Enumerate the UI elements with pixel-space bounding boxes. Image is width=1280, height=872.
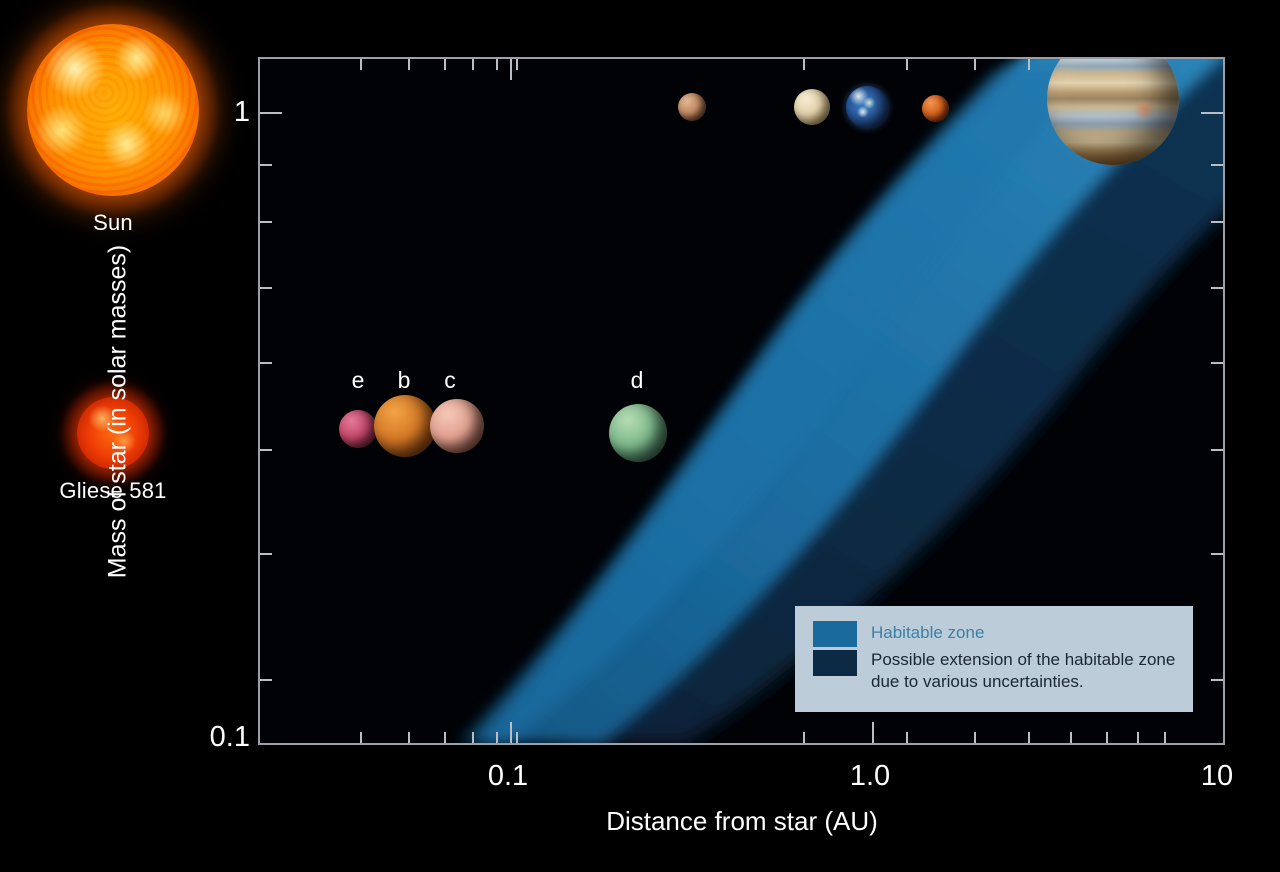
x-tick-minor <box>1137 732 1139 743</box>
planet-gliese-c[interactable] <box>430 399 484 453</box>
x-tick-minor-top <box>906 59 908 70</box>
x-tick-minor-top <box>444 59 446 70</box>
planet-label-c: c <box>430 367 470 394</box>
y-tick-minor-right <box>1211 553 1223 555</box>
x-tick-label-0-1: 0.1 <box>458 760 558 793</box>
x-tick-minor <box>496 732 498 743</box>
y-axis-title: Mass of star (in solar masses) <box>104 202 133 622</box>
x-tick-minor <box>1070 732 1072 743</box>
x-tick-minor <box>1164 732 1166 743</box>
x-tick-minor-top <box>1028 59 1030 70</box>
legend-row-habitable: Habitable zone <box>813 620 1177 647</box>
x-tick-minor-top <box>974 59 976 70</box>
y-tick-minor <box>260 287 272 289</box>
planet-gliese-e[interactable] <box>339 410 377 448</box>
legend: Habitable zone Possible extension of the… <box>795 606 1193 712</box>
planet-label-b: b <box>384 367 424 394</box>
legend-swatch-extension <box>813 650 857 676</box>
y-tick-minor-right <box>1211 287 1223 289</box>
y-tick-minor-right <box>1211 449 1223 451</box>
y-tick-minor <box>260 362 272 364</box>
chart-root: Sun Gliese 581 Mass of star (in solar ma… <box>0 0 1280 872</box>
planet-gliese-b[interactable] <box>374 395 436 457</box>
y-tick-major-1-right <box>1201 112 1223 114</box>
y-tick-minor <box>260 449 272 451</box>
y-tick-major-1 <box>260 112 282 114</box>
x-tick-minor <box>974 732 976 743</box>
planet-label-d: d <box>617 367 657 394</box>
planet-earth[interactable] <box>846 86 888 128</box>
y-tick-minor <box>260 553 272 555</box>
x-tick-minor-top <box>408 59 410 70</box>
legend-label-habitable: Habitable zone <box>871 620 984 646</box>
y-tick-label-1: 1 <box>198 96 250 129</box>
x-tick-minor <box>516 732 518 743</box>
sun-texture-icon <box>27 24 199 196</box>
x-tick-minor <box>360 732 362 743</box>
planet-label-e: e <box>338 367 378 394</box>
x-tick-minor <box>1106 732 1108 743</box>
x-tick-minor <box>408 732 410 743</box>
planet-mars[interactable] <box>922 95 949 122</box>
y-tick-minor <box>260 164 272 166</box>
x-tick-major-1-0 <box>872 722 874 743</box>
planet-mercury[interactable] <box>678 93 706 121</box>
legend-label-extension: Possible extension of the habitable zone… <box>871 649 1177 693</box>
x-tick-minor <box>1028 732 1030 743</box>
y-tick-minor-right <box>1211 164 1223 166</box>
x-tick-major-top-0-1 <box>510 59 512 80</box>
planet-venus[interactable] <box>794 89 830 125</box>
legend-swatch-habitable <box>813 621 857 647</box>
x-axis-title: Distance from star (AU) <box>258 806 1226 837</box>
x-tick-minor <box>803 732 805 743</box>
y-tick-minor-right <box>1211 679 1223 681</box>
x-tick-minor-top <box>496 59 498 70</box>
y-tick-label-0-1: 0.1 <box>182 721 250 754</box>
y-tick-minor <box>260 221 272 223</box>
x-tick-minor <box>444 732 446 743</box>
y-tick-minor-right <box>1211 362 1223 364</box>
x-tick-minor <box>906 732 908 743</box>
x-tick-minor-top <box>360 59 362 70</box>
x-tick-minor <box>472 732 474 743</box>
x-tick-minor-top <box>472 59 474 70</box>
planet-gliese-d[interactable] <box>609 404 667 462</box>
x-tick-minor-top <box>803 59 805 70</box>
x-tick-major-0-1 <box>510 722 512 743</box>
x-tick-label-1-0: 1.0 <box>820 760 920 793</box>
x-tick-label-10: 10 <box>1182 760 1252 793</box>
x-tick-minor-top <box>516 59 518 70</box>
y-tick-minor <box>260 679 272 681</box>
legend-row-extension: Possible extension of the habitable zone… <box>813 649 1177 693</box>
y-tick-minor-right <box>1211 221 1223 223</box>
